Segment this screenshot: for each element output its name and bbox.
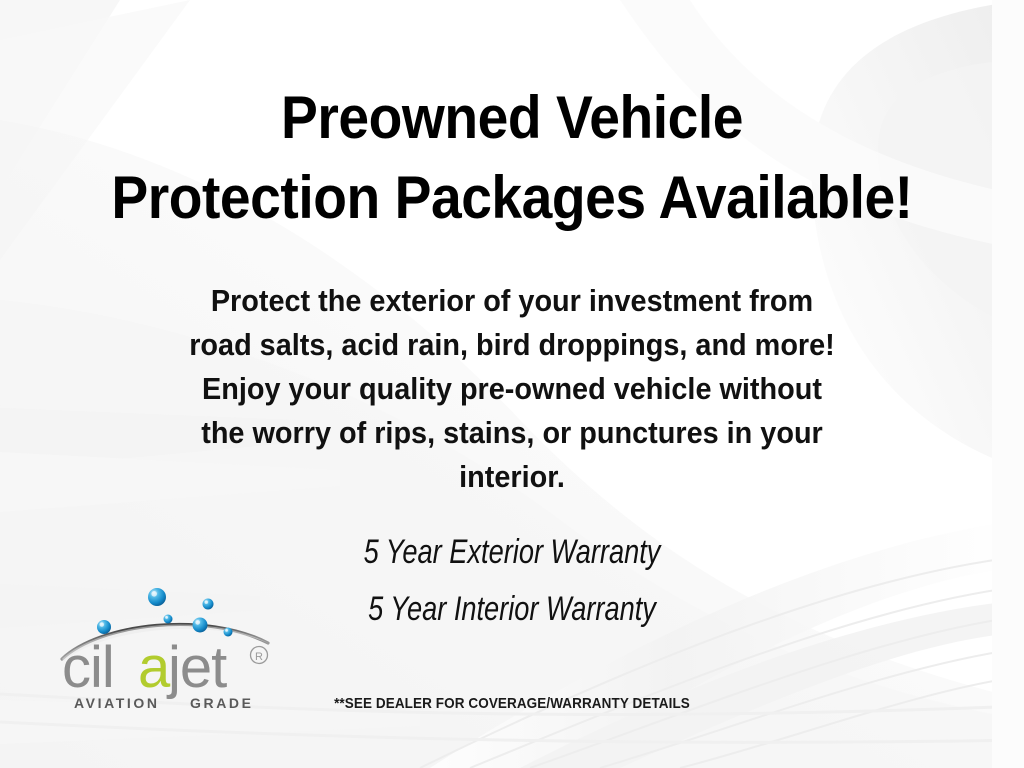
body-copy-line: the worry of rips, stains, or punctures …: [112, 411, 912, 455]
page-title-line-1: Preowned Vehicle: [87, 78, 937, 158]
logo-tagline-right: GRADE: [190, 695, 254, 711]
slide-canvas: Preowned Vehicle Protection Packages Ava…: [0, 0, 1024, 768]
logo-wordmark-suffix: jet: [166, 635, 227, 700]
svg-text:R: R: [255, 651, 263, 663]
logo-wordmark-accent: a: [138, 635, 171, 700]
page-title-line-2: Protection Packages Available!: [87, 158, 937, 238]
body-copy-line: interior.: [112, 455, 912, 499]
cilajet-logo: cil a jet R AVIATION GRADE: [56, 583, 288, 715]
body-copy-line: Enjoy your quality pre-owned vehicle wit…: [112, 367, 912, 411]
exterior-warranty-text: 5 Year Exterior Warranty: [168, 532, 856, 572]
logo-tagline-left: AVIATION: [74, 695, 160, 711]
body-copy-line: road salts, acid rain, bird droppings, a…: [112, 323, 912, 367]
registered-trademark-icon: R: [251, 647, 268, 664]
body-copy-line: Protect the exterior of your investment …: [112, 279, 912, 323]
logo-wordmark-prefix: cil: [62, 635, 114, 700]
body-copy: Protect the exterior of your investment …: [112, 279, 912, 499]
disclaimer-text: **SEE DEALER FOR COVERAGE/WARRANTY DETAI…: [215, 695, 809, 713]
